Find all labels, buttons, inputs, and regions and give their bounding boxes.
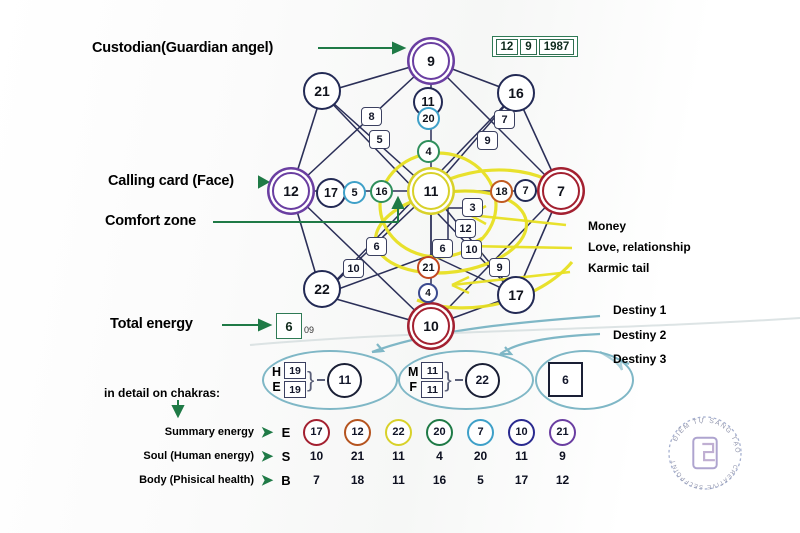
node-value: 16 — [375, 186, 387, 198]
birth-year: 1987 — [539, 39, 575, 55]
chakra-group-1: HE1919}11 — [272, 361, 362, 399]
table-cell: 20 — [419, 419, 460, 446]
node-value: 20 — [422, 113, 434, 125]
energy-circle: 20 — [426, 419, 453, 446]
chakra-values: 1111 — [421, 361, 443, 399]
value-box-box-6: 6 — [366, 237, 387, 256]
table-cell: 11 — [378, 473, 419, 487]
chakra-keys: MF — [408, 365, 418, 395]
row-key: E — [276, 425, 296, 440]
label-karmic-tail: Karmic tail — [588, 261, 649, 275]
energy-circle: 17 — [303, 419, 330, 446]
node-value: 16 — [508, 85, 524, 101]
node-bottom: 10 — [412, 307, 450, 345]
total-energy-suffix: 09 — [304, 325, 314, 335]
chakra-brace-icon: } — [444, 375, 451, 385]
node-value: 4 — [425, 288, 431, 299]
row-label: Soul (Human energy) — [102, 450, 258, 462]
value-box-box-12: 12 — [455, 219, 476, 238]
label-calling-card: Calling card (Face) — [108, 173, 234, 189]
birth-month: 9 — [520, 39, 536, 55]
node-value: 9 — [427, 53, 435, 69]
birth-date-box: 12 9 1987 — [492, 36, 578, 57]
label-total-energy: Total energy — [110, 316, 193, 332]
table-cell: 5 — [460, 473, 501, 487]
node-b-4: 4 — [418, 283, 438, 303]
table-cell: 12 — [542, 473, 583, 487]
label-destiny-2: Destiny 2 — [613, 328, 666, 342]
energy-circle: 22 — [385, 419, 412, 446]
chakra-values: 1919 — [284, 361, 306, 399]
svg-text:CREATIVE SELFPOINT: CREATIVE SELFPOINT — [671, 458, 738, 489]
table-row: Summary energy➤E1712222071021 — [102, 420, 583, 444]
table-row: Soul (Human energy)➤S102111420119 — [102, 444, 583, 468]
chakra-group-3: 6 — [548, 362, 583, 397]
energy-circle: 21 — [549, 419, 576, 446]
svg-text:ĐIỂM TỰ SÁNG TẠO: ĐIỂM TỰ SÁNG TẠO — [672, 417, 741, 454]
node-h-17: 17 — [316, 178, 346, 208]
node-value: 17 — [324, 186, 338, 200]
brand-watermark-icon: ĐIỂM TỰ SÁNG TẠO CREATIVE SELFPOINT — [660, 408, 750, 498]
node-v-20: 20 — [417, 107, 440, 130]
node-top: 9 — [412, 42, 450, 80]
node-value: 11 — [424, 183, 439, 199]
chakra-value-cell: 11 — [421, 362, 443, 379]
chakra-keys: HE — [272, 365, 281, 395]
label-love: Love, relationship — [588, 240, 691, 254]
node-value: 18 — [495, 186, 507, 198]
energy-circle: 10 — [508, 419, 535, 446]
chakra-value-cell: 19 — [284, 362, 306, 379]
node-value: 4 — [425, 146, 431, 158]
table-cell: 7 — [460, 419, 501, 446]
node-bottom-right: 17 — [497, 276, 535, 314]
node-right: 7 — [542, 172, 580, 210]
node-h-5: 5 — [343, 181, 366, 204]
node-top-right: 16 — [497, 74, 535, 112]
value-box-box-10c: 10 — [461, 240, 482, 259]
label-chakra-intro: in detail on chakras: — [104, 386, 220, 400]
chakra-connector — [455, 379, 463, 381]
node-value: 21 — [422, 262, 434, 274]
table-cell: 20 — [460, 449, 501, 463]
value-box-box-6c: 6 — [432, 239, 453, 258]
table-cell: 10 — [296, 449, 337, 463]
table-cell: 4 — [419, 449, 460, 463]
chakra-group-2: MF1111}22 — [408, 361, 500, 399]
node-value: 12 — [283, 183, 299, 199]
node-left: 12 — [272, 172, 310, 210]
value-box-box-9: 9 — [477, 131, 498, 150]
node-value: 7 — [557, 183, 565, 199]
table-cell: 17 — [296, 419, 337, 446]
table-cell: 21 — [542, 419, 583, 446]
energy-circle: 12 — [344, 419, 371, 446]
node-value: 10 — [423, 318, 439, 334]
value-box-box-5: 5 — [369, 130, 390, 149]
row-label: Summary energy — [102, 426, 258, 438]
node-value: 22 — [314, 281, 330, 297]
chakra-value-cell: 19 — [284, 381, 306, 398]
chakra-brace-icon: } — [307, 375, 314, 385]
birth-day: 12 — [496, 39, 519, 55]
table-cell: 22 — [378, 419, 419, 446]
row-key: S — [276, 449, 296, 464]
chart-canvas: 12 9 1987 Custodian(Guardian angel) Call… — [0, 0, 800, 533]
table-cell: 18 — [337, 473, 378, 487]
node-value: 17 — [508, 287, 524, 303]
label-comfort-zone: Comfort zone — [105, 213, 196, 229]
row-arrow-icon: ➤ — [258, 447, 276, 465]
label-destiny-3: Destiny 3 — [613, 352, 666, 366]
node-top-left: 21 — [303, 72, 341, 110]
node-bottom-left: 22 — [303, 270, 341, 308]
table-cell: 17 — [501, 473, 542, 487]
node-h-18: 18 — [490, 180, 513, 203]
table-cell: 21 — [337, 449, 378, 463]
table-cell: 11 — [501, 449, 542, 463]
label-destiny-1: Destiny 1 — [613, 303, 666, 317]
chakra-result-2: 22 — [465, 363, 500, 398]
node-h-16: 16 — [370, 180, 393, 203]
row-key: B — [276, 473, 296, 488]
value-box-box-8: 8 — [361, 107, 382, 126]
value-box-box-7: 7 — [494, 110, 515, 129]
chakra-result-3: 6 — [548, 362, 583, 397]
value-box-box-3: 3 — [462, 198, 483, 217]
table-cell: 9 — [542, 449, 583, 463]
row-label: Body (Phisical health) — [102, 474, 258, 486]
table-row: Body (Phisical health)➤B718111651712 — [102, 468, 583, 492]
label-money: Money — [588, 219, 626, 233]
value-box-box-9b: 9 — [489, 258, 510, 277]
row-arrow-icon: ➤ — [258, 471, 276, 489]
row-arrow-icon: ➤ — [258, 423, 276, 441]
chakra-result-1: 11 — [327, 363, 362, 398]
table-cell: 16 — [419, 473, 460, 487]
node-v-4: 4 — [417, 140, 440, 163]
label-custodian: Custodian(Guardian angel) — [92, 40, 273, 56]
node-h-7: 7 — [514, 179, 537, 202]
chakra-connector — [317, 379, 325, 381]
table-cell: 7 — [296, 473, 337, 487]
node-value: 5 — [351, 187, 357, 199]
table-cell: 12 — [337, 419, 378, 446]
node-center: 11 — [412, 172, 450, 210]
energy-table: Summary energy➤E1712222071021Soul (Human… — [102, 420, 583, 492]
node-value: 7 — [522, 185, 528, 197]
energy-circle: 7 — [467, 419, 494, 446]
node-value: 21 — [314, 83, 330, 99]
node-b-21: 21 — [417, 256, 440, 279]
total-energy-value: 6 — [276, 313, 302, 339]
value-box-box-10: 10 — [343, 259, 364, 278]
table-cell: 10 — [501, 419, 542, 446]
table-cell: 11 — [378, 449, 419, 463]
chakra-value-cell: 11 — [421, 381, 443, 398]
